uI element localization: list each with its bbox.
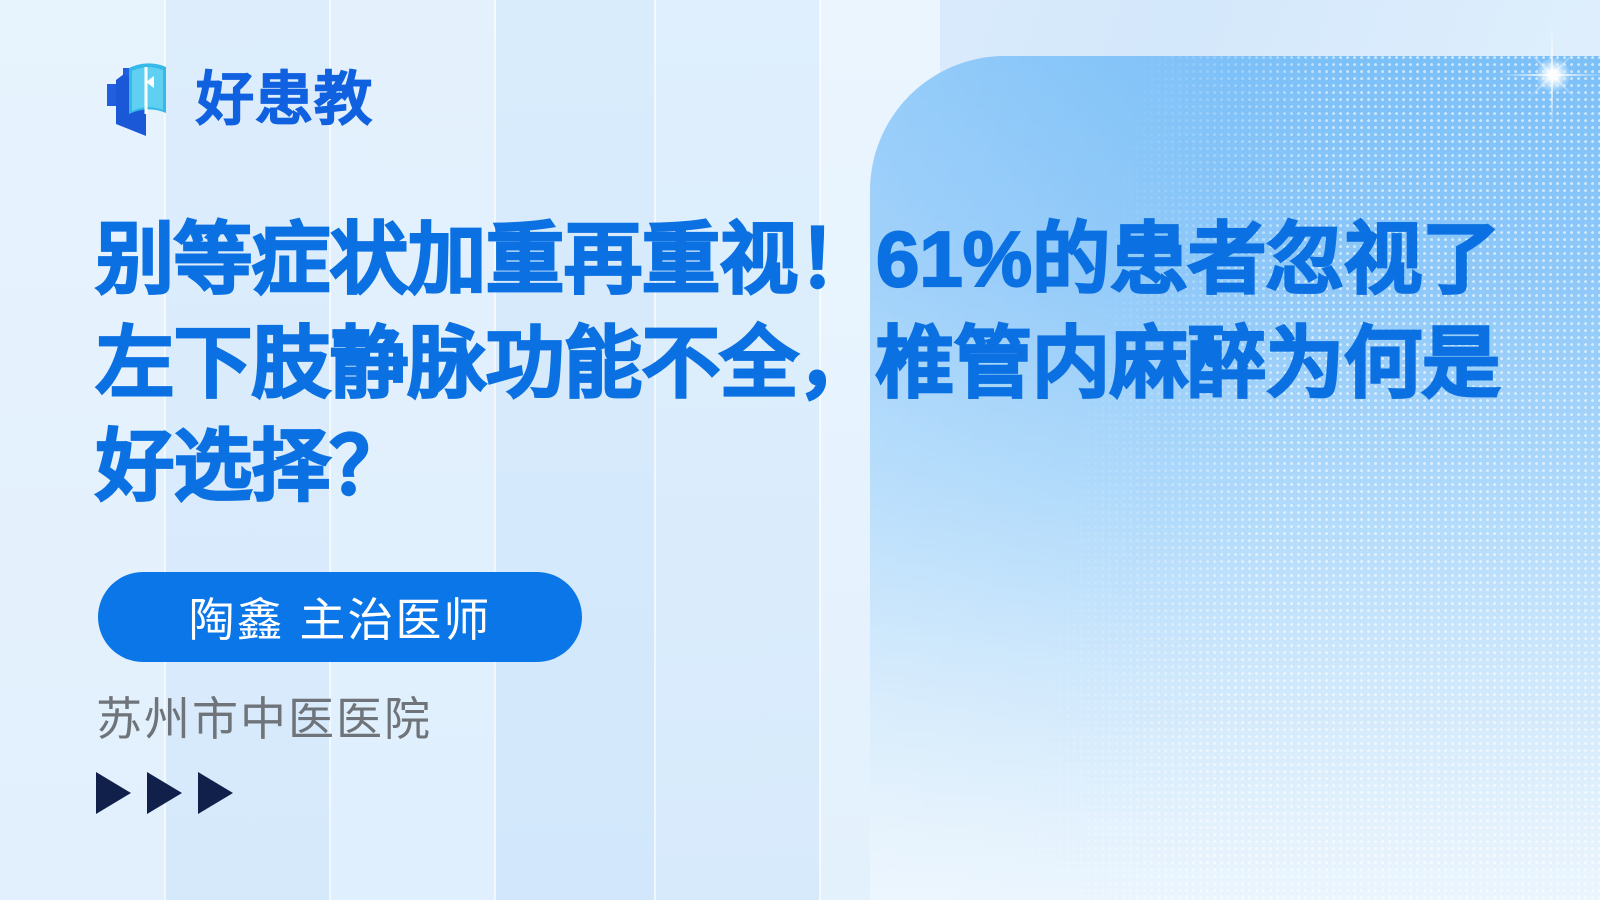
headline-line-3: 好选择？	[96, 415, 1516, 519]
author-badge[interactable]: 陶鑫 主治医师	[98, 572, 582, 662]
play-triangle-icon	[198, 772, 233, 814]
hospital-name: 苏州市中医医院	[96, 683, 432, 749]
play-triangle-icon	[96, 772, 131, 814]
play-triangle-icon	[147, 772, 182, 814]
headline-line-1: 别等症状加重再重视！61%的患者忽视了	[96, 208, 1516, 312]
brand-name: 好患教	[196, 71, 373, 129]
arrow-indicators	[96, 772, 233, 814]
headline-line-2: 左下肢静脉功能不全，椎管内麻醉为何是	[96, 312, 1516, 416]
brand-logo[interactable]: 好患教	[96, 58, 373, 142]
author-badge-label: 陶鑫 主治医师	[189, 584, 492, 650]
poster-canvas: 好患教 别等症状加重再重视！61%的患者忽视了 左下肢静脉功能不全，椎管内麻醉为…	[0, 0, 1600, 900]
medical-cross-book-icon	[96, 58, 182, 142]
page-title: 别等症状加重再重视！61%的患者忽视了 左下肢静脉功能不全，椎管内麻醉为何是 好…	[96, 208, 1516, 519]
